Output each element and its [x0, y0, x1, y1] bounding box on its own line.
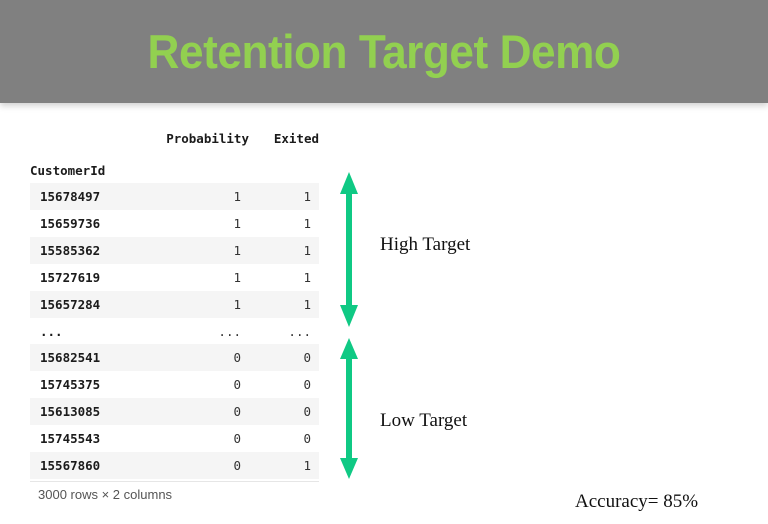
dataframe-head: Probability Exited CustomerId	[30, 118, 319, 183]
cell-customer-id: 15745375	[30, 371, 146, 398]
cell-exited: 1	[249, 183, 319, 210]
table-row: 15745543 0 0	[30, 425, 319, 452]
cell-customer-id: 15613085	[30, 398, 146, 425]
high-target-label: High Target	[380, 234, 470, 256]
table-row: 15727619 1 1	[30, 264, 319, 291]
high-target-double-arrow-icon	[338, 172, 360, 332]
table-row: 15613085 0 0	[30, 398, 319, 425]
cell-customer-id: 15659736	[30, 210, 146, 237]
cell-exited: 1	[249, 210, 319, 237]
cell-customer-id: 15567860	[30, 452, 146, 479]
index-name-label: CustomerId	[30, 150, 146, 183]
dataframe-panel: Probability Exited CustomerId 15678497 1…	[30, 118, 319, 502]
cell-exited: 1	[249, 264, 319, 291]
cell-customer-id: 15678497	[30, 183, 146, 210]
cell-ellipsis-probability: ...	[146, 318, 249, 344]
cell-probability: 0	[146, 344, 249, 371]
table-row: 15659736 1 1	[30, 210, 319, 237]
table-row: 15682541 0 0	[30, 344, 319, 371]
cell-probability: 1	[146, 237, 249, 264]
cell-exited: 0	[249, 371, 319, 398]
cell-exited: 0	[249, 344, 319, 371]
column-header-probability: Probability	[146, 118, 249, 150]
cell-customer-id: 15745543	[30, 425, 146, 452]
table-row: 15745375 0 0	[30, 371, 319, 398]
cell-customer-id: 15727619	[30, 264, 146, 291]
cell-probability: 0	[146, 452, 249, 479]
cell-probability: 0	[146, 398, 249, 425]
cell-ellipsis-exited: ...	[249, 318, 319, 344]
index-name-spacer-2	[249, 150, 319, 183]
cell-exited: 0	[249, 398, 319, 425]
table-row: 15678497 1 1	[30, 183, 319, 210]
table-row-ellipsis: ... ... ...	[30, 318, 319, 344]
index-corner-blank	[30, 118, 146, 150]
cell-exited: 1	[249, 452, 319, 479]
dataframe-table: Probability Exited CustomerId 15678497 1…	[30, 118, 319, 479]
low-target-double-arrow-icon	[338, 338, 360, 484]
page-title: Retention Target Demo	[23, 0, 745, 103]
column-header-exited: Exited	[249, 118, 319, 150]
cell-probability: 0	[146, 425, 249, 452]
accuracy-label: Accuracy= 85%	[575, 491, 698, 513]
cell-probability: 1	[146, 210, 249, 237]
cell-ellipsis-index: ...	[30, 318, 146, 344]
dataframe-shape-footer: 3000 rows × 2 columns	[30, 481, 319, 502]
table-row: 15585362 1 1	[30, 237, 319, 264]
cell-probability: 1	[146, 183, 249, 210]
dataframe-body: 15678497 1 1 15659736 1 1 15585362 1 1 1…	[30, 183, 319, 479]
cell-customer-id: 15682541	[30, 344, 146, 371]
low-target-label: Low Target	[380, 410, 467, 432]
cell-probability: 0	[146, 371, 249, 398]
cell-probability: 1	[146, 291, 249, 318]
cell-exited: 0	[249, 425, 319, 452]
cell-exited: 1	[249, 237, 319, 264]
cell-exited: 1	[249, 291, 319, 318]
index-name-spacer-1	[146, 150, 249, 183]
column-header-row: Probability Exited	[30, 118, 319, 150]
cell-probability: 1	[146, 264, 249, 291]
cell-customer-id: 15585362	[30, 237, 146, 264]
index-name-row: CustomerId	[30, 150, 319, 183]
cell-customer-id: 15657284	[30, 291, 146, 318]
table-row: 15567860 0 1	[30, 452, 319, 479]
table-row: 15657284 1 1	[30, 291, 319, 318]
